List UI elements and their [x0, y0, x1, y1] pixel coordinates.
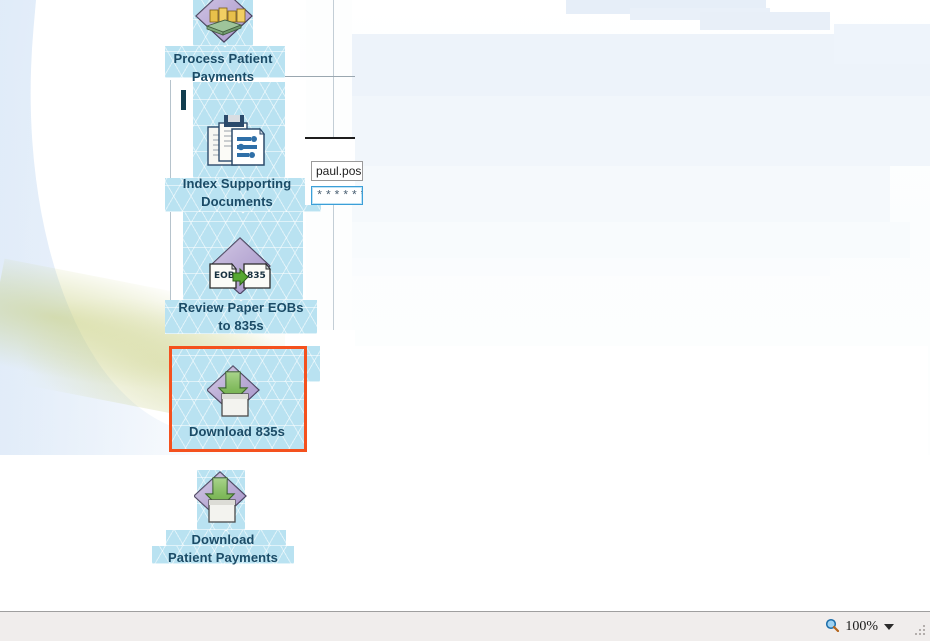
repaint-fragment	[700, 12, 830, 30]
tile-label-download-835s[interactable]: Download 835s	[170, 423, 304, 441]
app-panel-footer	[0, 578, 930, 611]
text-caret	[181, 90, 186, 110]
eob-label: EOB	[214, 271, 235, 281]
repaint-fragment	[834, 24, 930, 64]
status-bar: 100%	[0, 611, 930, 641]
eob-to-835-icon[interactable]: EOB 835	[206, 236, 274, 294]
repaint-fragment	[350, 166, 890, 222]
application-window: Process Patient Payments	[0, 0, 930, 641]
download-tray-icon[interactable]	[194, 470, 250, 528]
username-field[interactable]: paul.pos	[311, 161, 363, 181]
groupbox-separator	[283, 76, 355, 77]
repaint-fragment	[350, 222, 910, 258]
tile-label-review-paper-eobs[interactable]: Review Paper EOBs to 835s	[163, 299, 319, 335]
tile-label-download-patient-payments[interactable]: Download Patient Payments	[152, 531, 294, 567]
zoom-magnifier-icon	[825, 618, 839, 635]
stacked-documents-icon[interactable]	[206, 113, 268, 171]
repaint-fragment	[350, 96, 930, 166]
eightthirtyfive-label: 835	[247, 271, 266, 281]
zoom-level-label: 100%	[845, 619, 878, 635]
zoom-control[interactable]: 100%	[825, 618, 894, 635]
download-tray-icon[interactable]	[207, 364, 263, 422]
repaint-fragment	[350, 258, 830, 276]
tile-label-index-supporting-documents[interactable]: Index Supporting Documents	[160, 175, 314, 211]
chevron-down-icon[interactable]	[884, 624, 894, 630]
money-coins-icon[interactable]	[193, 0, 255, 44]
resize-grip-icon[interactable]	[911, 623, 927, 639]
tile-label-process-patient-payments[interactable]: Process Patient Payments	[155, 50, 291, 86]
password-field[interactable]: ********	[311, 186, 363, 205]
